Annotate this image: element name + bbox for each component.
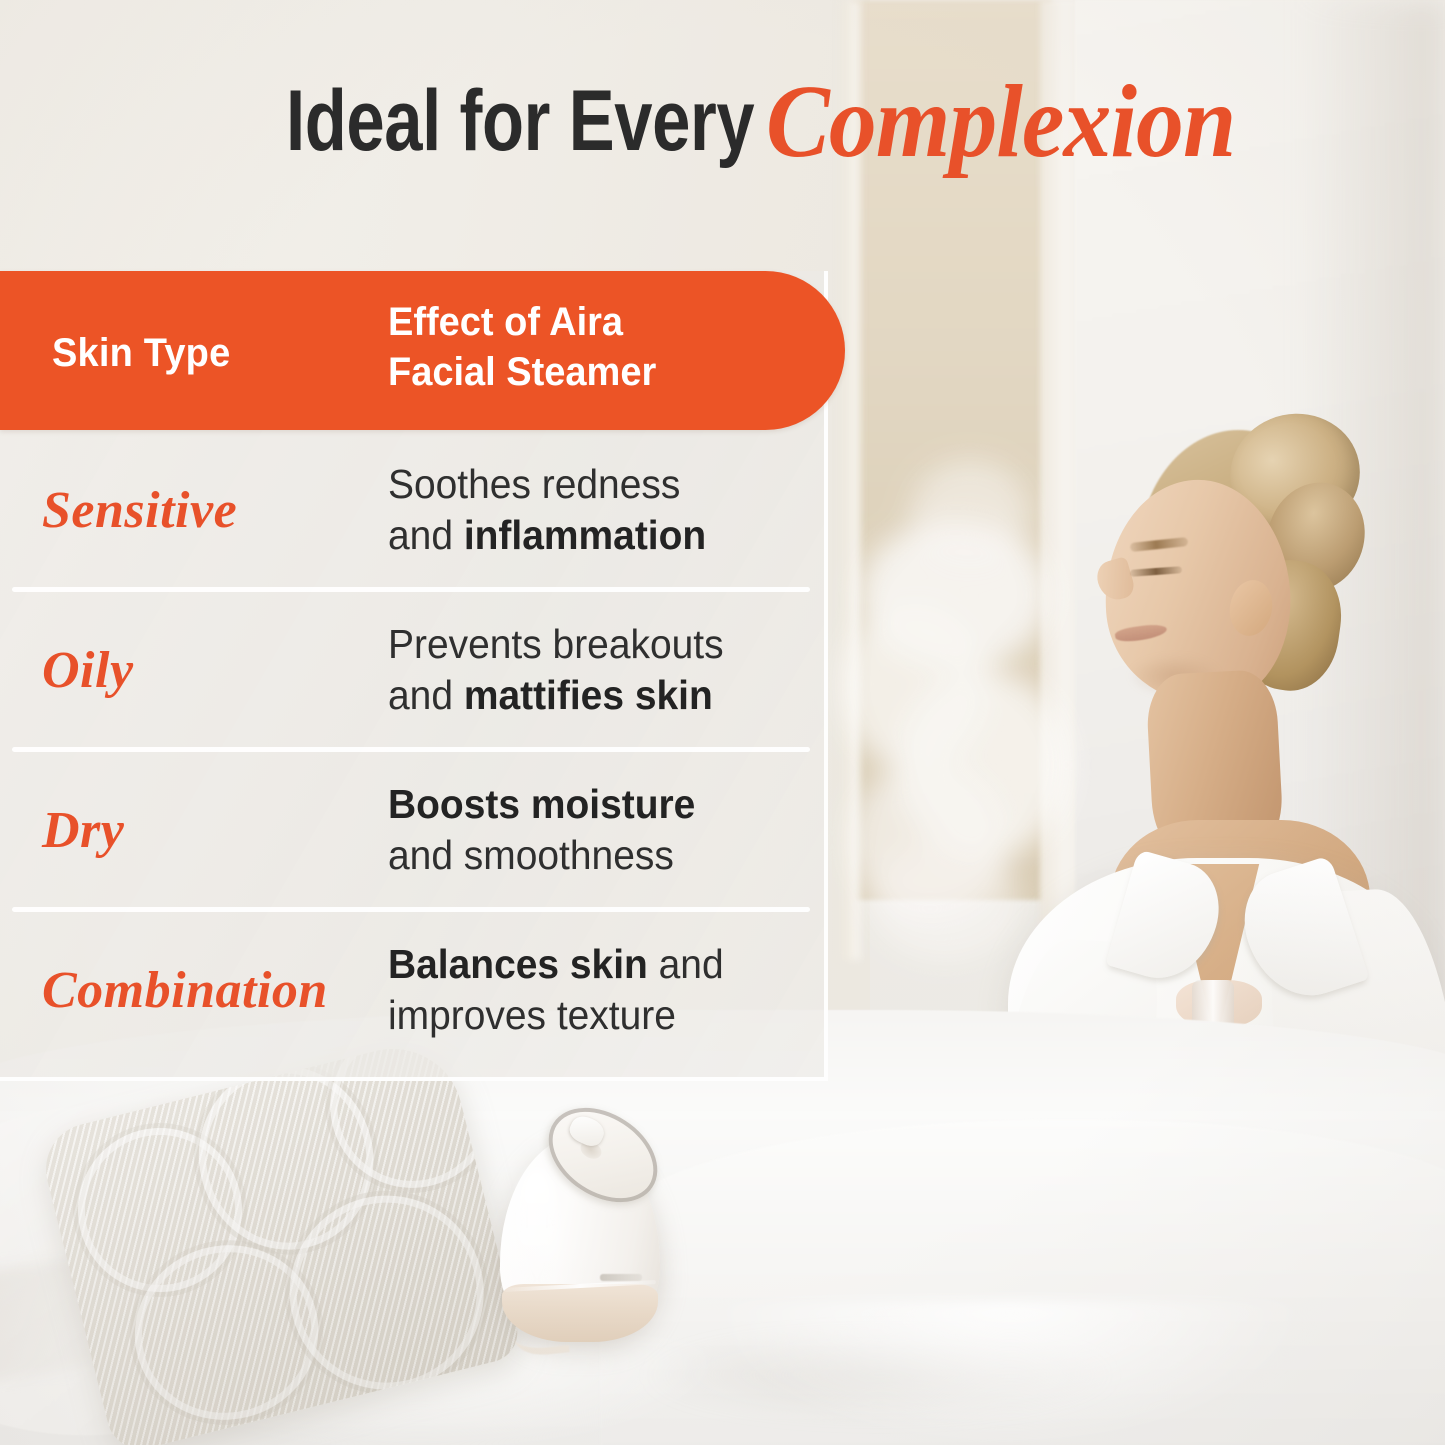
skin-type-label: Dry xyxy=(42,750,124,910)
skin-type-label: Sensitive xyxy=(42,430,237,590)
table-body: Sensitive Soothes redness and inflammati… xyxy=(0,430,828,1081)
column-header-effect: Effect of Aira Facial Steamer xyxy=(388,297,749,397)
effect-line: improves texture xyxy=(388,990,787,1041)
page-title: Ideal for EveryComplexion xyxy=(0,62,1445,180)
duvet-fold xyxy=(700,1300,1320,1445)
effect-text-regular: improves texture xyxy=(388,992,676,1038)
effect-line: and mattifies skin xyxy=(388,670,787,721)
effect-text-bold: Boosts moisture xyxy=(388,781,695,827)
effect-text-regular: and xyxy=(388,512,464,558)
effect-text-regular: and xyxy=(648,941,724,987)
facial-steamer-product xyxy=(492,1108,672,1343)
effect-line: and smoothness xyxy=(388,830,787,881)
column-header-skin-type: Skin Type xyxy=(52,331,230,376)
effect-line: and inflammation xyxy=(388,510,787,561)
effect-description: Prevents breakouts and mattifies skin xyxy=(388,590,787,750)
effect-text-bold: Balances skin xyxy=(388,941,648,987)
skin-type-label: Oily xyxy=(42,590,134,750)
effect-text-regular: Prevents breakouts xyxy=(388,621,724,667)
steamer-logo xyxy=(600,1274,642,1281)
table-row: Oily Prevents breakouts and mattifies sk… xyxy=(0,590,828,750)
effect-description: Boosts moisture and smoothness xyxy=(388,750,787,910)
title-part-accent: Complexion xyxy=(766,62,1235,181)
infographic-canvas: Ideal for EveryComplexion Skin Type Effe… xyxy=(0,0,1445,1445)
effect-description: Soothes redness and inflammation xyxy=(388,430,787,590)
effect-line: Prevents breakouts xyxy=(388,619,787,670)
effect-text-bold: inflammation xyxy=(464,512,706,558)
effect-line: Balances skin and xyxy=(388,939,787,990)
table-row: Dry Boosts moisture and smoothness xyxy=(0,750,828,910)
effect-text-regular: Soothes redness xyxy=(388,461,680,507)
effect-text-bold: mattifies skin xyxy=(464,672,713,718)
effect-description: Balances skin and improves texture xyxy=(388,910,787,1070)
column-header-effect-line2: Facial Steamer xyxy=(388,347,749,397)
table-header-bar: Skin Type Effect of Aira Facial Steamer xyxy=(0,271,845,430)
column-header-effect-line1: Effect of Aira xyxy=(388,297,749,347)
skin-type-label: Combination xyxy=(42,910,328,1070)
table-row: Combination Balances skin and improves t… xyxy=(0,910,828,1070)
effect-text-regular: and smoothness xyxy=(388,832,674,878)
table-row: Sensitive Soothes redness and inflammati… xyxy=(0,430,828,590)
effect-line: Soothes redness xyxy=(388,459,787,510)
effect-text-regular: and xyxy=(388,672,464,718)
steamer-highlight xyxy=(514,1168,560,1288)
effect-line: Boosts moisture xyxy=(388,779,787,830)
title-part-plain: Ideal for Every xyxy=(286,72,754,171)
